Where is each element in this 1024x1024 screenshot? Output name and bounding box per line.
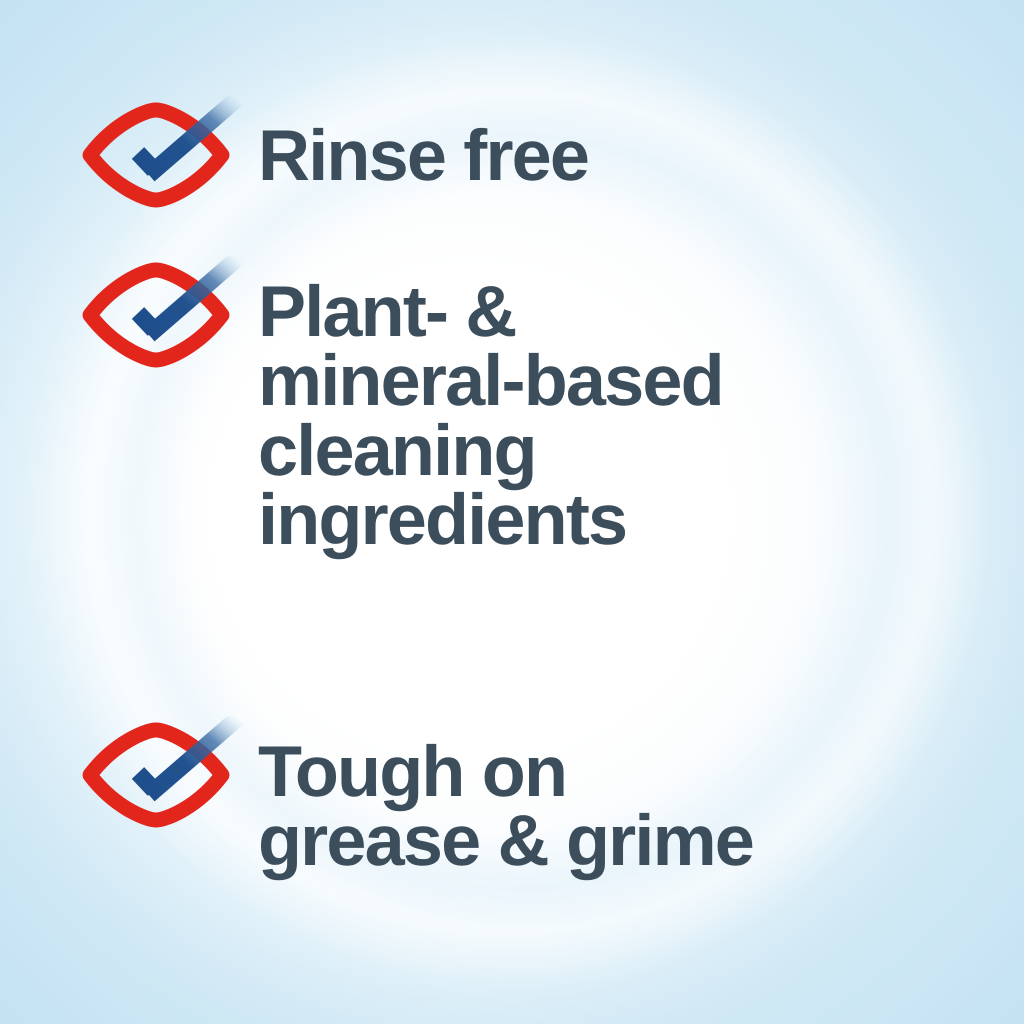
red-lens-blue-checkmark-icon [78, 256, 250, 372]
benefit-item-plant-mineral-based: Plant- & mineral-based cleaning ingredie… [78, 256, 723, 556]
red-lens-blue-checkmark-icon [78, 716, 250, 832]
benefit-label: Tough on grease & grime [258, 716, 753, 877]
benefit-label: Plant- & mineral-based cleaning ingredie… [258, 256, 723, 556]
benefit-label: Rinse free [258, 96, 588, 191]
benefit-item-rinse-free: Rinse free [78, 96, 588, 212]
benefit-item-tough-on-grease-grime: Tough on grease & grime [78, 716, 753, 877]
benefits-list: Rinse free Plant- & mineral-based cleani… [0, 0, 1024, 1024]
product-benefits-poster: Rinse free Plant- & mineral-based cleani… [0, 0, 1024, 1024]
red-lens-blue-checkmark-icon [78, 96, 250, 212]
